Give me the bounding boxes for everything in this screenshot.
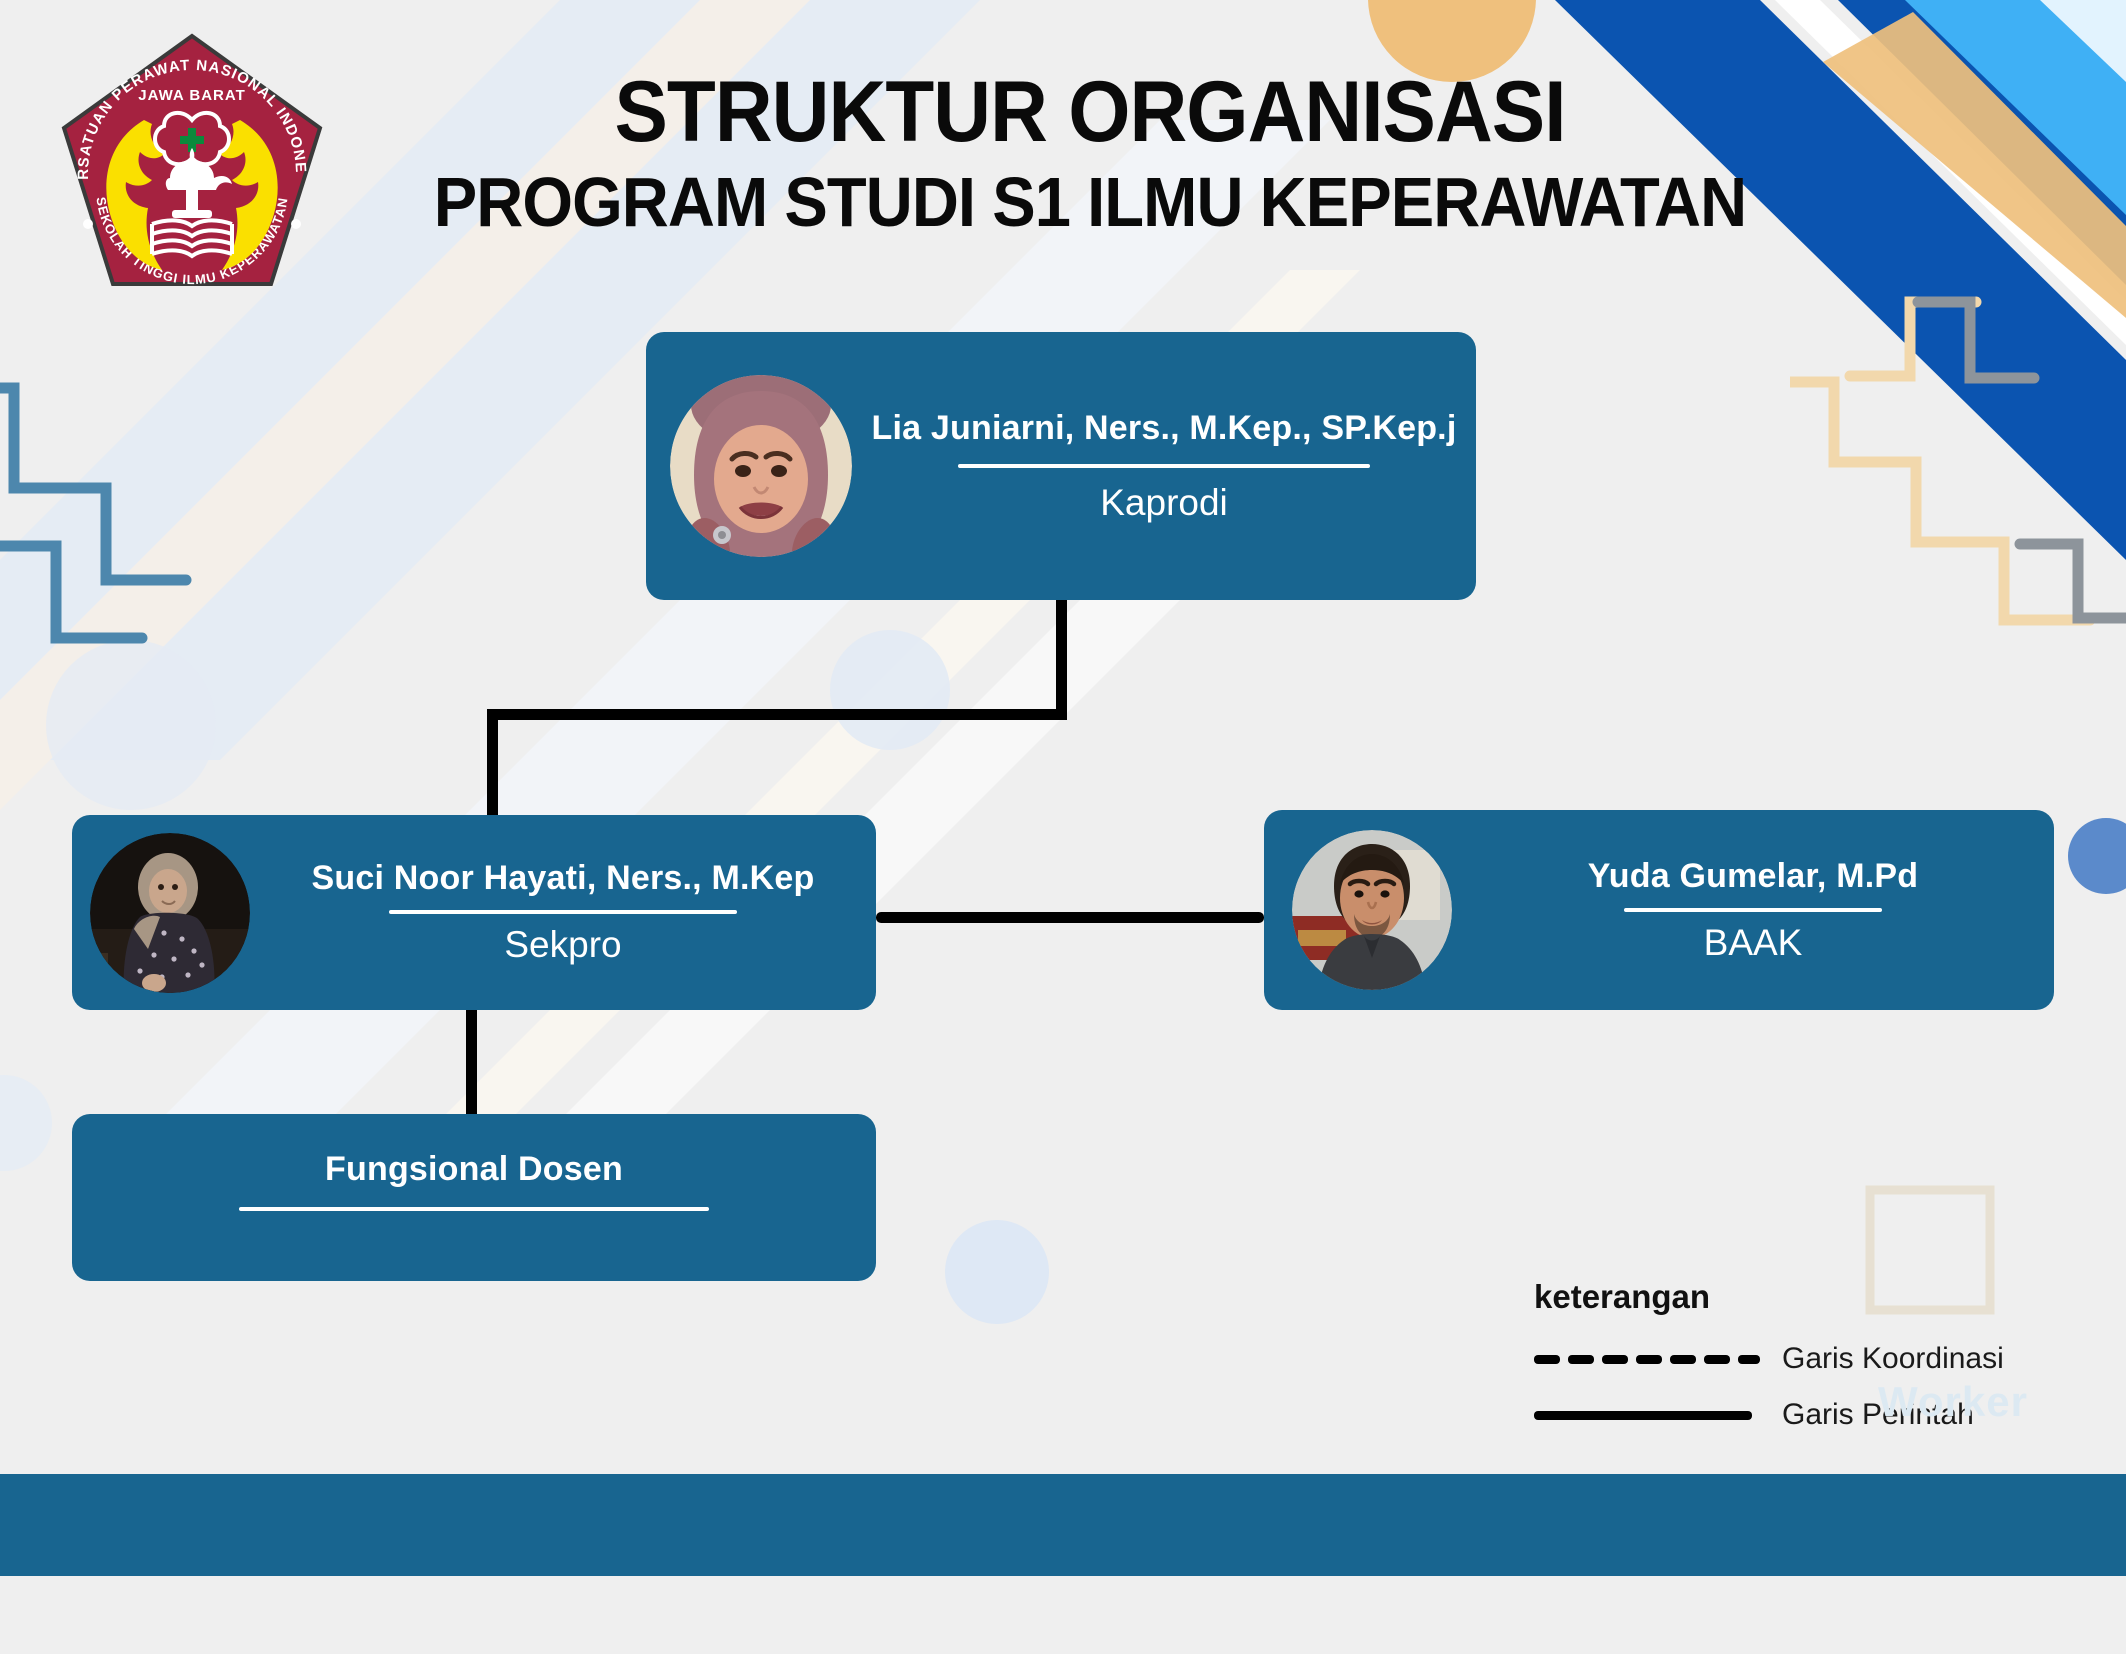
pale-circle-left	[46, 640, 216, 810]
node-text-baak: Yuda Gumelar, M.Pd BAAK	[1452, 857, 2054, 964]
bottom-bar	[0, 1474, 2126, 1576]
org-node-fungsional-dosen[interactable]: Fungsional Dosen	[72, 1114, 876, 1281]
title-line-2: PROGRAM STUDI S1 ILMU KEPERAWATAN	[383, 168, 1797, 237]
node-divider-baak	[1624, 908, 1882, 912]
node-text-fungsional-dosen: Fungsional Dosen	[72, 1114, 876, 1211]
node-name-fungsional-dosen: Fungsional Dosen	[90, 1150, 858, 1189]
node-text-sekpro: Suci Noor Hayati, Ners., M.Kep Sekpro	[250, 859, 876, 966]
org-node-kaprodi[interactable]: Lia Juniarni, Ners., M.Kep., SP.Kep.j Ka…	[646, 332, 1476, 600]
legend-title: keterangan	[1534, 1278, 2014, 1316]
node-divider-kaprodi	[958, 464, 1370, 468]
pale-circle-bottom	[945, 1220, 1049, 1324]
poster-canvas: PERSATUAN PERAWAT NASIONAL INDONESIA SEK…	[0, 0, 2126, 1654]
legend-solid-line-sample	[1534, 1404, 1764, 1426]
watermark-text: Worker	[1878, 1378, 2028, 1426]
pale-circle-left-low	[0, 1075, 52, 1171]
svg-text:JAWA BARAT: JAWA BARAT	[138, 87, 246, 104]
blue-circle-decoration	[2068, 818, 2126, 894]
connector-to-sekpro-vertical	[487, 709, 498, 815]
node-divider-sekpro	[389, 910, 737, 914]
org-node-baak[interactable]: Yuda Gumelar, M.Pd BAAK	[1264, 810, 2054, 1010]
node-role-kaprodi: Kaprodi	[870, 482, 1458, 524]
node-name-kaprodi: Lia Juniarni, Ners., M.Kep., SP.Kep.j	[870, 409, 1458, 448]
node-role-baak: BAAK	[1470, 922, 2036, 964]
page-title: STRUKTUR ORGANISASI PROGRAM STUDI S1 ILM…	[330, 70, 1850, 237]
avatar-sekpro	[90, 833, 250, 993]
title-line-1: STRUKTUR ORGANISASI	[383, 70, 1797, 154]
avatar-kaprodi	[670, 375, 852, 557]
node-divider-fungsional-dosen	[239, 1207, 709, 1211]
node-name-sekpro: Suci Noor Hayati, Ners., M.Kep	[268, 859, 858, 898]
legend-row-koordinasi: Garis Koordinasi	[1534, 1342, 2014, 1376]
legend-dashed-line-sample	[1534, 1348, 1764, 1370]
connector-sekpro-fungsional	[466, 1010, 477, 1120]
connector-sekpro-baak	[876, 912, 1264, 923]
pale-circle-center	[830, 630, 950, 750]
avatar-baak	[1292, 830, 1452, 990]
connector-kaprodi-horizontal	[487, 709, 1067, 720]
legend-label-koordinasi: Garis Koordinasi	[1782, 1342, 2004, 1376]
gold-parallelogram	[1823, 12, 2126, 318]
ppni-stikep-logo: PERSATUAN PERAWAT NASIONAL INDONESIA SEK…	[52, 28, 332, 318]
node-role-sekpro: Sekpro	[268, 924, 858, 966]
node-text-kaprodi: Lia Juniarni, Ners., M.Kep., SP.Kep.j Ka…	[852, 409, 1476, 524]
org-node-sekpro[interactable]: Suci Noor Hayati, Ners., M.Kep Sekpro	[72, 815, 876, 1010]
node-name-baak: Yuda Gumelar, M.Pd	[1470, 857, 2036, 896]
connector-kaprodi-vertical	[1056, 600, 1067, 716]
right-staircase-lines	[1790, 260, 2126, 820]
